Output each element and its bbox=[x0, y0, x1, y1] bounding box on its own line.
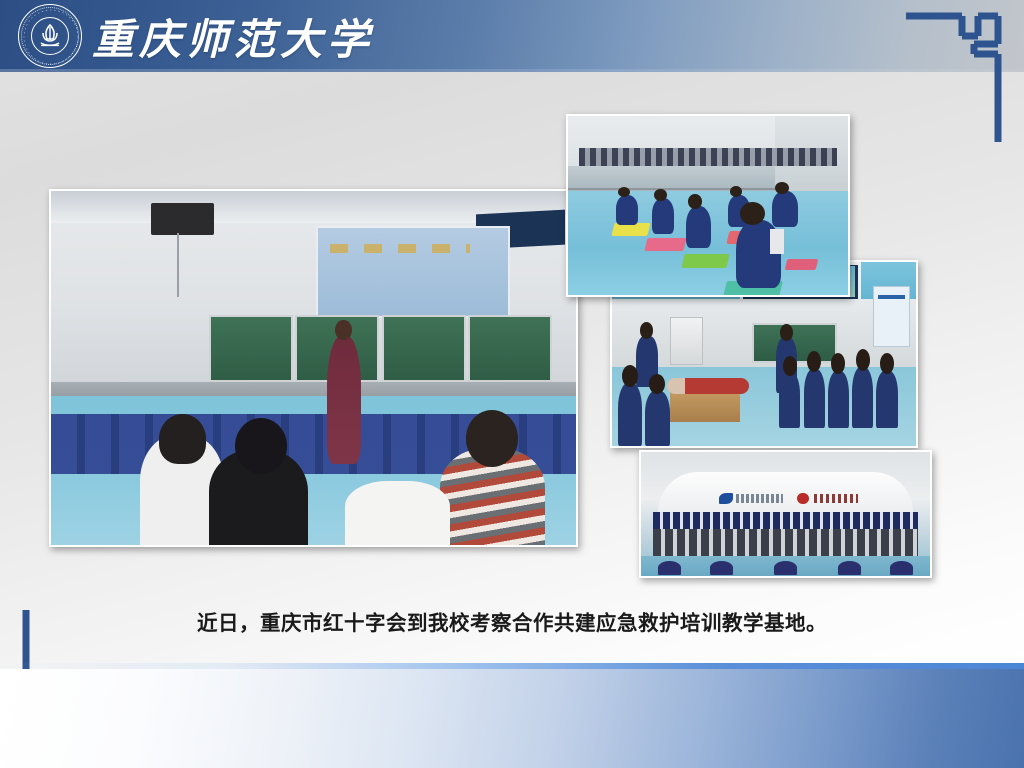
seated-student bbox=[876, 371, 897, 428]
cpr-practice-photo[interactable] bbox=[566, 114, 850, 297]
projector-mount bbox=[177, 233, 179, 297]
group-photo[interactable] bbox=[639, 450, 932, 578]
seated-student bbox=[852, 367, 873, 428]
projector bbox=[151, 203, 214, 235]
presenter-figure bbox=[327, 336, 361, 463]
student-kneeling bbox=[772, 191, 797, 227]
seated-row bbox=[653, 529, 919, 556]
group-photo-scene bbox=[641, 452, 930, 576]
presentation-slide: 重庆师范大学 bbox=[0, 0, 1024, 768]
university-seal-icon bbox=[18, 4, 82, 68]
student-kneeling bbox=[616, 195, 638, 225]
university-name-title: 重庆师范大学 bbox=[92, 8, 374, 64]
foreground-chair bbox=[890, 561, 913, 575]
seated-student bbox=[779, 372, 800, 427]
audience-figure-head bbox=[466, 410, 519, 467]
practice-mat bbox=[611, 223, 651, 236]
audience-figure-head bbox=[159, 414, 206, 464]
ballet-barre bbox=[568, 188, 781, 190]
student-kneeling bbox=[652, 198, 674, 234]
foreground-chair bbox=[658, 561, 681, 575]
university-text bbox=[814, 494, 857, 503]
projection-screen bbox=[316, 226, 510, 318]
bottom-gradient-band bbox=[0, 669, 1024, 768]
foreground-chair bbox=[774, 561, 797, 575]
red-cross-logo-icon bbox=[797, 493, 809, 504]
cpr-manikin bbox=[667, 378, 749, 395]
practice-mat bbox=[681, 254, 729, 268]
seated-student bbox=[618, 383, 642, 446]
practice-mat bbox=[785, 259, 818, 270]
chalkboard-panel bbox=[209, 315, 293, 382]
header-bar: 重庆师范大学 bbox=[0, 0, 1024, 72]
audience-figure-head bbox=[235, 418, 288, 475]
student-kneeling bbox=[686, 206, 711, 249]
top-right-corner-ornament-icon bbox=[900, 2, 1006, 144]
foreground-chair bbox=[838, 561, 861, 575]
wooden-table bbox=[670, 391, 740, 422]
seated-student bbox=[828, 371, 849, 428]
practice-mat bbox=[645, 238, 687, 251]
cpr-practice-scene bbox=[568, 116, 848, 295]
audience-figure bbox=[345, 481, 450, 545]
wall-poster bbox=[873, 286, 909, 347]
lecture-hall-photo[interactable] bbox=[49, 189, 578, 547]
student-shirt bbox=[770, 229, 784, 254]
aviation-training-text bbox=[736, 494, 782, 503]
slide-caption: 近日，重庆市红十字会到我校考察合作共建应急救护培训教学基地。 bbox=[0, 606, 1024, 636]
air-conditioner bbox=[670, 317, 703, 365]
foreground-chair bbox=[710, 561, 733, 575]
seated-student bbox=[804, 369, 825, 428]
background-observers bbox=[579, 148, 837, 166]
chalkboard-panel bbox=[382, 315, 466, 382]
seated-student bbox=[645, 391, 669, 446]
lecture-hall-scene bbox=[51, 191, 576, 545]
chalkboard-panel bbox=[468, 315, 552, 382]
